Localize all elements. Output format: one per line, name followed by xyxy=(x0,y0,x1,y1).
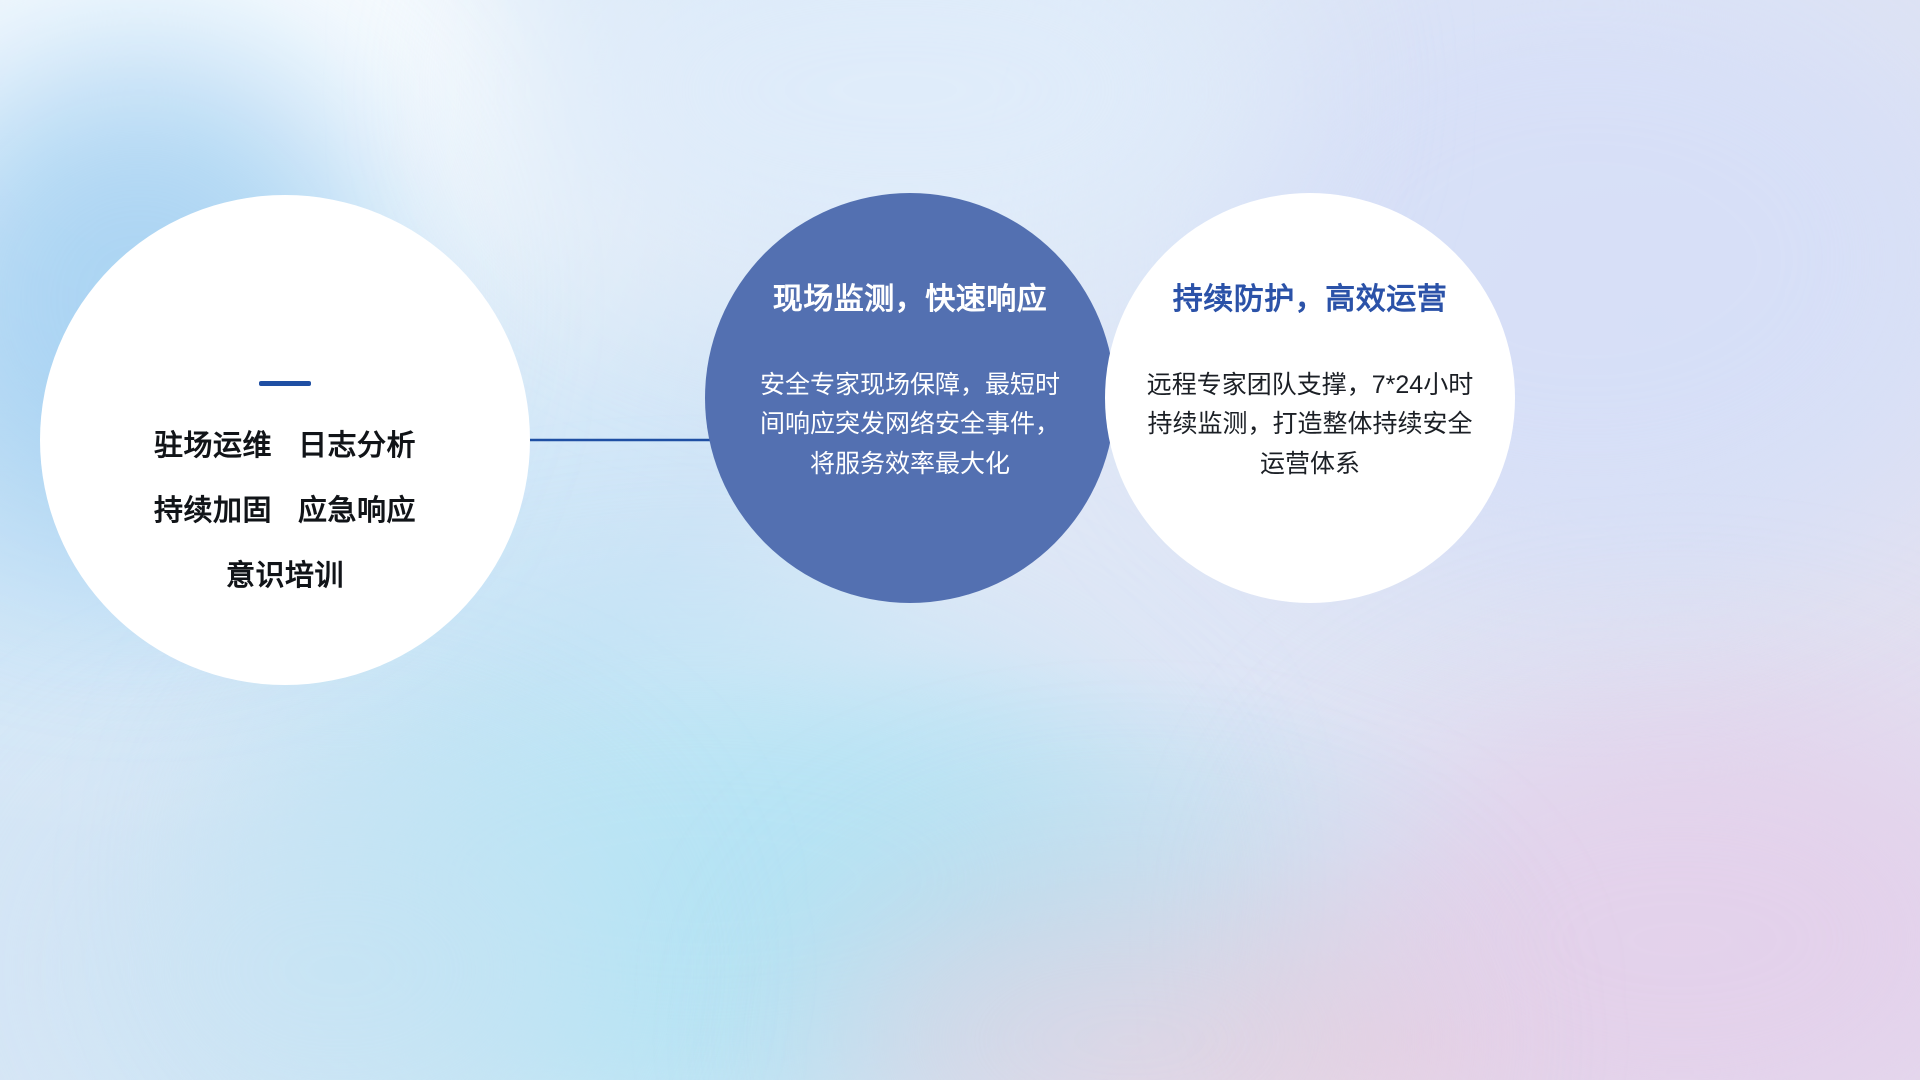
continuous-protection-title: 持续防护，高效运营 xyxy=(1173,283,1448,318)
keyword-continuous-hardening: 持续加固 xyxy=(154,495,272,527)
keyword-row-3: 意识培训 xyxy=(226,562,344,591)
onsite-monitoring-title: 现场监测，快速响应 xyxy=(773,283,1048,318)
background-haze-bottom-left xyxy=(60,760,620,1080)
keyword-row-2: 持续加固应急响应 xyxy=(154,497,416,526)
background-haze-bottom-center xyxy=(250,620,1150,1080)
onsite-monitoring-circle[interactable]: 现场监测，快速响应 安全专家现场保障，最短时间响应突发网络安全事件，将服务效率最… xyxy=(705,193,1115,603)
keyword-row-1: 驻场运维日志分析 xyxy=(154,432,416,461)
continuous-protection-body: 远程专家团队支撑，7*24小时持续监测，打造整体持续安全运营体系 xyxy=(1140,366,1480,485)
keyword-log-analysis: 日志分析 xyxy=(298,430,416,462)
keyword-emergency-response: 应急响应 xyxy=(298,495,416,527)
background-haze-bottom-right xyxy=(1330,700,1920,1080)
capability-circle[interactable]: 驻场运维日志分析 持续加固应急响应 意识培训 xyxy=(40,195,530,685)
continuous-protection-circle[interactable]: 持续防护，高效运营 远程专家团队支撑，7*24小时持续监测，打造整体持续安全运营… xyxy=(1105,193,1515,603)
divider-dash-icon xyxy=(259,381,311,386)
background-haze-pink xyxy=(820,860,1440,1080)
slide-canvas: 驻场运维日志分析 持续加固应急响应 意识培训 现场监测，快速响应 安全专家现场保… xyxy=(0,0,1920,1080)
onsite-monitoring-body: 安全专家现场保障，最短时间响应突发网络安全事件，将服务效率最大化 xyxy=(755,366,1065,485)
keyword-onsite-ops: 驻场运维 xyxy=(154,430,272,462)
